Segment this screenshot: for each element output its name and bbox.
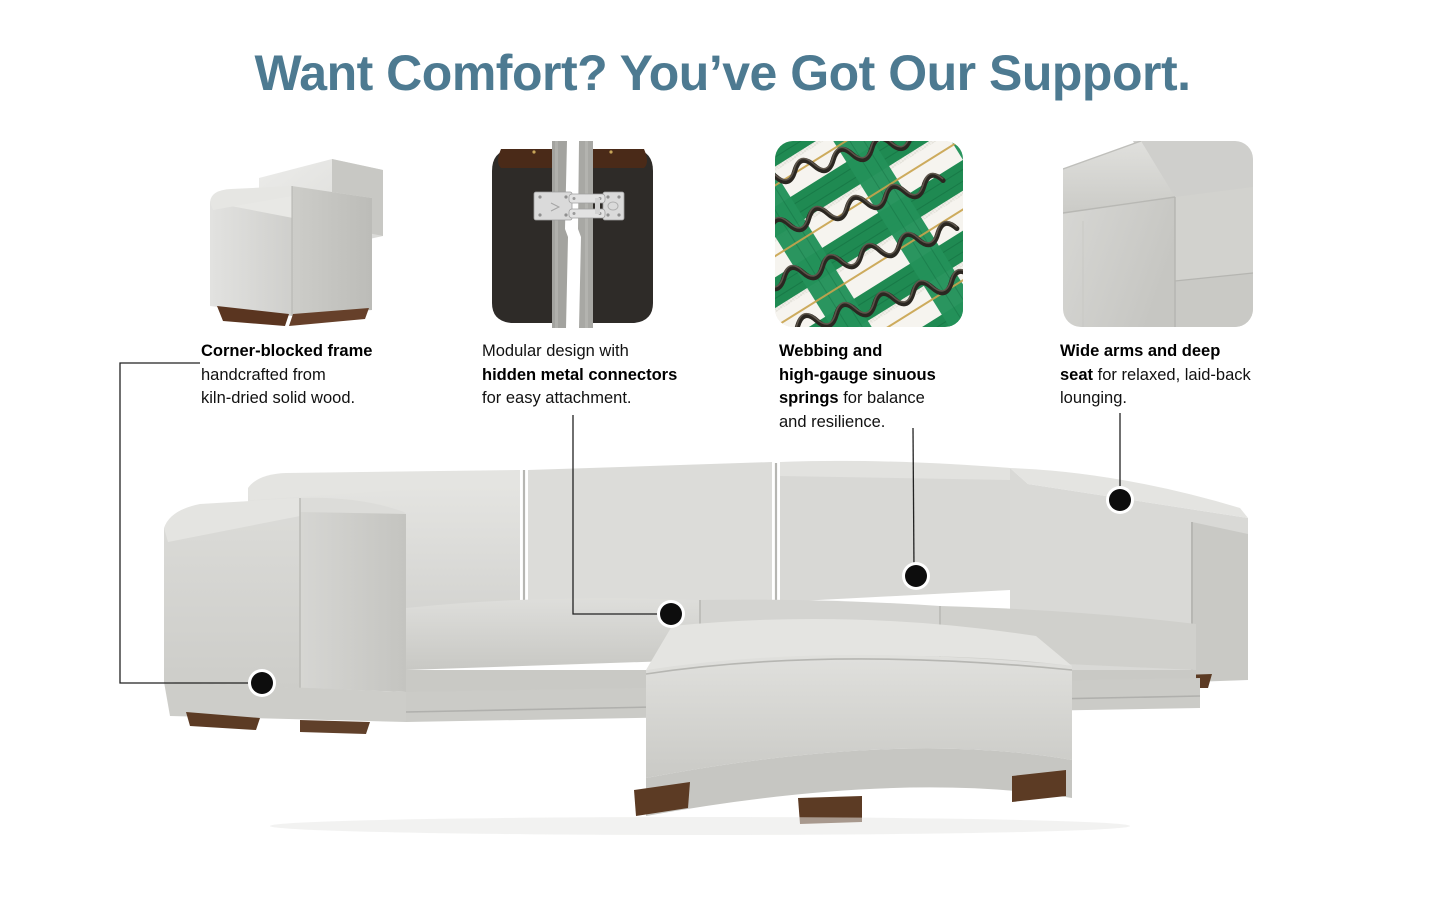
callout-dot-springs[interactable] xyxy=(905,565,927,587)
caption-line: for easy attachment. xyxy=(482,387,762,411)
caption-webbing-springs: Webbing and high-gauge sinuous springs f… xyxy=(779,340,1019,434)
callout-dot-arms[interactable] xyxy=(1109,489,1131,511)
caption-line: Modular design with xyxy=(482,340,762,364)
sectional-sofa-with-ottoman xyxy=(0,430,1445,860)
caption-line: handcrafted from xyxy=(201,364,471,388)
corner-module-illustration xyxy=(197,140,402,328)
caption-line: Wide arms and deep xyxy=(1060,340,1320,364)
webbing-springs-illustration xyxy=(775,141,963,327)
caption-line: seat for relaxed, laid-back xyxy=(1060,364,1320,388)
sofa-illustration xyxy=(0,430,1445,860)
caption-line: Corner-blocked frame xyxy=(201,340,471,364)
callout-dot-connectors[interactable] xyxy=(660,603,682,625)
caption-corner-blocked-frame: Corner-blocked frame handcrafted from ki… xyxy=(201,340,471,411)
callout-dot-frame[interactable] xyxy=(251,672,273,694)
webbing-springs-thumbnail xyxy=(775,141,963,327)
infographic-stage: Want Comfort? You’ve Got Our Support. xyxy=(0,0,1445,905)
wide-arm-illustration xyxy=(1063,141,1253,327)
page-title: Want Comfort? You’ve Got Our Support. xyxy=(0,44,1445,102)
metal-connector-illustration xyxy=(489,141,656,328)
wide-arm-thumbnail xyxy=(1063,141,1253,327)
caption-line: kiln-dried solid wood. xyxy=(201,387,471,411)
caption-line: Webbing and xyxy=(779,340,1019,364)
caption-line: springs for balance xyxy=(779,387,1019,411)
corner-blocked-frame-thumbnail xyxy=(197,140,402,328)
caption-line: high-gauge sinuous xyxy=(779,364,1019,388)
metal-connector-thumbnail xyxy=(489,141,656,328)
caption-hidden-metal-connectors: Modular design with hidden metal connect… xyxy=(482,340,762,411)
caption-line: hidden metal connectors xyxy=(482,364,762,388)
caption-wide-arms-deep-seat: Wide arms and deep seat for relaxed, lai… xyxy=(1060,340,1320,411)
caption-line: lounging. xyxy=(1060,387,1320,411)
